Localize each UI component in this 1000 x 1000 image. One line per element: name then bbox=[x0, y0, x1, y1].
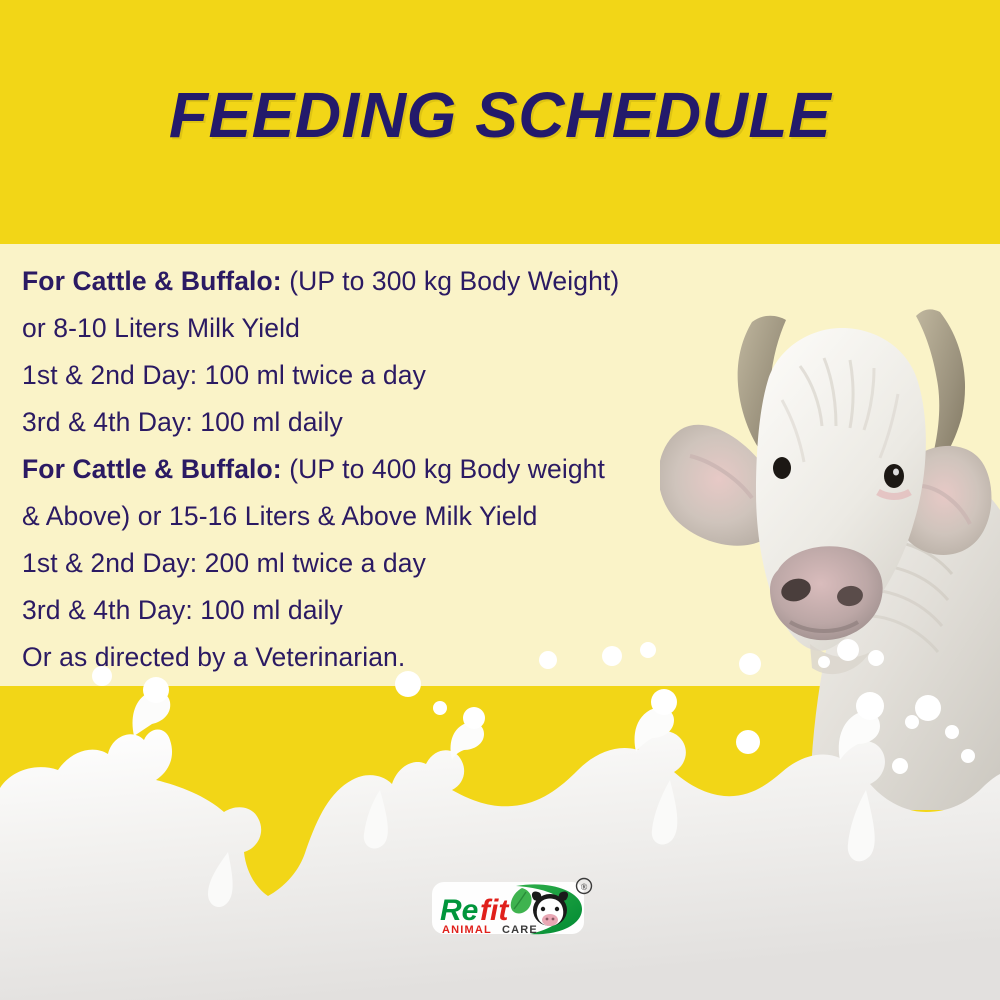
milk-droplet bbox=[92, 666, 112, 686]
milk-droplet bbox=[651, 689, 677, 715]
schedule-line: For Cattle & Buffalo: (UP to 300 kg Body… bbox=[22, 258, 762, 305]
milk-droplet bbox=[143, 677, 169, 703]
milk-droplet bbox=[736, 730, 760, 754]
feeding-schedule-text: For Cattle & Buffalo: (UP to 300 kg Body… bbox=[22, 258, 762, 681]
schedule-line: 3rd & 4th Day: 100 ml daily bbox=[22, 587, 762, 634]
schedule-line: 1st & 2nd Day: 200 ml twice a day bbox=[22, 540, 762, 587]
schedule-line-rest: & Above) or 15-16 Liters & Above Milk Yi… bbox=[22, 501, 537, 531]
milk-droplet bbox=[463, 707, 485, 729]
schedule-line: & Above) or 15-16 Liters & Above Milk Yi… bbox=[22, 493, 762, 540]
schedule-line-rest: 1st & 2nd Day: 200 ml twice a day bbox=[22, 548, 426, 578]
cow-eye-left bbox=[773, 457, 791, 479]
milk-wave bbox=[0, 730, 1000, 1000]
brand-logo[interactable]: ® Re fit ANIMAL CARE bbox=[430, 876, 600, 950]
schedule-line-rest: 3rd & 4th Day: 100 ml daily bbox=[22, 595, 343, 625]
schedule-line: 3rd & 4th Day: 100 ml daily bbox=[22, 399, 762, 446]
milk-droplet bbox=[433, 701, 447, 715]
milk-droplet bbox=[602, 646, 622, 666]
milk-droplet bbox=[961, 749, 975, 763]
schedule-line: For Cattle & Buffalo: (UP to 400 kg Body… bbox=[22, 446, 762, 493]
page-title: FEEDING SCHEDULE bbox=[0, 78, 1000, 152]
milk-droplet bbox=[856, 692, 884, 720]
schedule-line-rest: (UP to 400 kg Body weight bbox=[282, 454, 605, 484]
milk-droplet bbox=[739, 653, 761, 675]
milk-droplet bbox=[539, 651, 557, 669]
schedule-line-bold: For Cattle & Buffalo: bbox=[22, 266, 282, 296]
schedule-line-rest: 3rd & 4th Day: 100 ml daily bbox=[22, 407, 343, 437]
schedule-line: or 8-10 Liters Milk Yield bbox=[22, 305, 762, 352]
milk-droplet bbox=[892, 758, 908, 774]
milk-droplet bbox=[640, 642, 656, 658]
logo-tagline-second: CARE bbox=[502, 924, 538, 936]
logo-brand-second: fit bbox=[480, 894, 510, 927]
cow-eye-right bbox=[884, 464, 904, 488]
poster-canvas: FEEDING SCHEDULE bbox=[0, 0, 1000, 1000]
logo-brand-first: Re bbox=[440, 894, 478, 927]
logo-tagline-first: ANIMAL bbox=[442, 924, 492, 936]
schedule-line-rest: (UP to 300 kg Body Weight) bbox=[282, 266, 620, 296]
schedule-line-rest: or 8-10 Liters Milk Yield bbox=[22, 313, 300, 343]
milk-droplet bbox=[395, 671, 421, 697]
schedule-line: 1st & 2nd Day: 100 ml twice a day bbox=[22, 352, 762, 399]
registered-mark-glyph: ® bbox=[581, 882, 588, 892]
schedule-line-bold: For Cattle & Buffalo: bbox=[22, 454, 282, 484]
schedule-line-rest: 1st & 2nd Day: 100 ml twice a day bbox=[22, 360, 426, 390]
